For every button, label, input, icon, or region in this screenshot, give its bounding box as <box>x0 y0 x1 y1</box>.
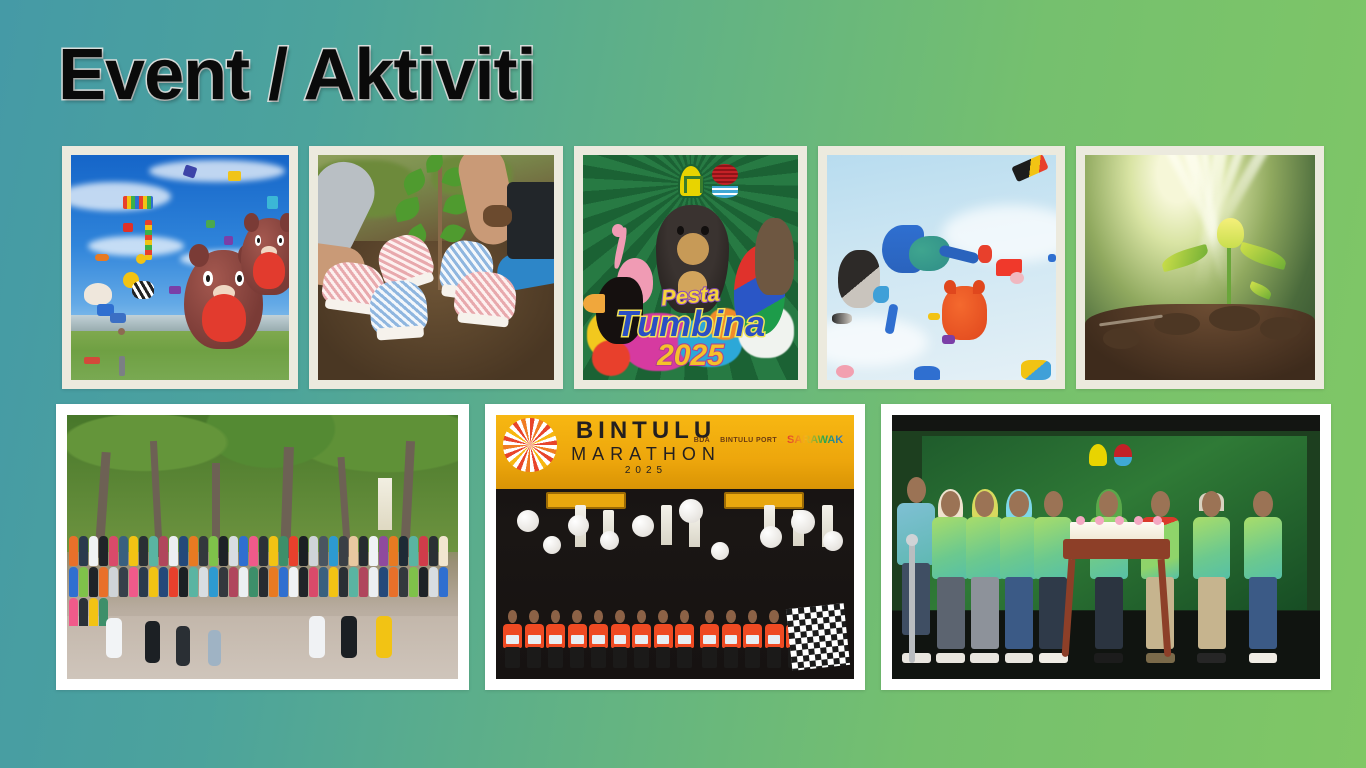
photo-park-gathering <box>67 415 458 679</box>
photo-card-kite-festival[interactable] <box>62 146 298 389</box>
cake-table <box>1063 539 1170 655</box>
photo-tree-planting <box>318 155 554 380</box>
banner-line-2: MARATHON <box>571 445 721 463</box>
marathon-arch-banner: BINTULU MARATHON 2025 BDA BINTULU PORT S… <box>496 415 854 489</box>
photo-animal-kites <box>827 155 1056 380</box>
sponsor-bda: BDA <box>694 437 710 444</box>
photo-card-bintulu-marathon[interactable]: BINTULU MARATHON 2025 BDA BINTULU PORT S… <box>485 404 865 690</box>
page-title: Event / Aktiviti <box>58 38 535 114</box>
official-8 <box>1192 491 1232 663</box>
event-flag-banner <box>378 478 392 530</box>
sponsor-sarawak: SARAWAK <box>787 434 843 446</box>
photo-card-animal-kites[interactable] <box>818 146 1065 389</box>
seahorse-kite <box>882 218 974 286</box>
photo-pesta-tumbina-poster: Pesta Tumbina 2025 <box>583 155 798 380</box>
glove-blue-2 <box>368 279 428 337</box>
globe-emblem-logo <box>712 164 738 198</box>
bda-shield-logo-small <box>1089 444 1107 466</box>
banner-sponsor-logos: BDA BINTULU PORT SARAWAK <box>694 434 844 446</box>
sunburst-logo-icon <box>503 418 557 472</box>
gallery-row-top: Pesta Tumbina 2025 <box>62 146 1324 389</box>
photo-card-park-gathering[interactable] <box>56 404 469 690</box>
photo-card-tree-planting[interactable] <box>309 146 563 389</box>
sponsor-bintulu-port: BINTULU PORT <box>720 437 777 444</box>
photo-bintulu-marathon: BINTULU MARATHON 2025 BDA BINTULU PORT S… <box>496 415 854 679</box>
official-9 <box>1243 491 1283 663</box>
gallery-row-bottom: BINTULU MARATHON 2025 BDA BINTULU PORT S… <box>56 404 1331 690</box>
poster-line-1: Pesta <box>660 281 721 312</box>
backdrop-logos <box>1089 444 1132 466</box>
photo-kite-festival <box>71 155 289 380</box>
photo-seedling <box>1085 155 1315 380</box>
poster-logos <box>678 164 738 198</box>
photo-card-seedling[interactable] <box>1076 146 1324 389</box>
photo-cake-cutting <box>892 415 1320 679</box>
crowd-participants <box>67 536 458 626</box>
bda-shield-logo <box>678 164 704 198</box>
poster-title: Pesta Tumbina 2025 <box>583 283 798 373</box>
queue-stanchion <box>909 542 915 663</box>
photo-card-pesta-tumbina-poster[interactable]: Pesta Tumbina 2025 <box>574 146 807 389</box>
banner-line-3: 2025 <box>571 466 721 476</box>
checkered-flag <box>786 604 850 672</box>
cat-kite <box>942 286 988 340</box>
photo-card-cake-cutting[interactable] <box>881 404 1331 690</box>
globe-emblem-logo-small <box>1114 444 1132 466</box>
chipmunk-kite-2 <box>241 218 289 295</box>
